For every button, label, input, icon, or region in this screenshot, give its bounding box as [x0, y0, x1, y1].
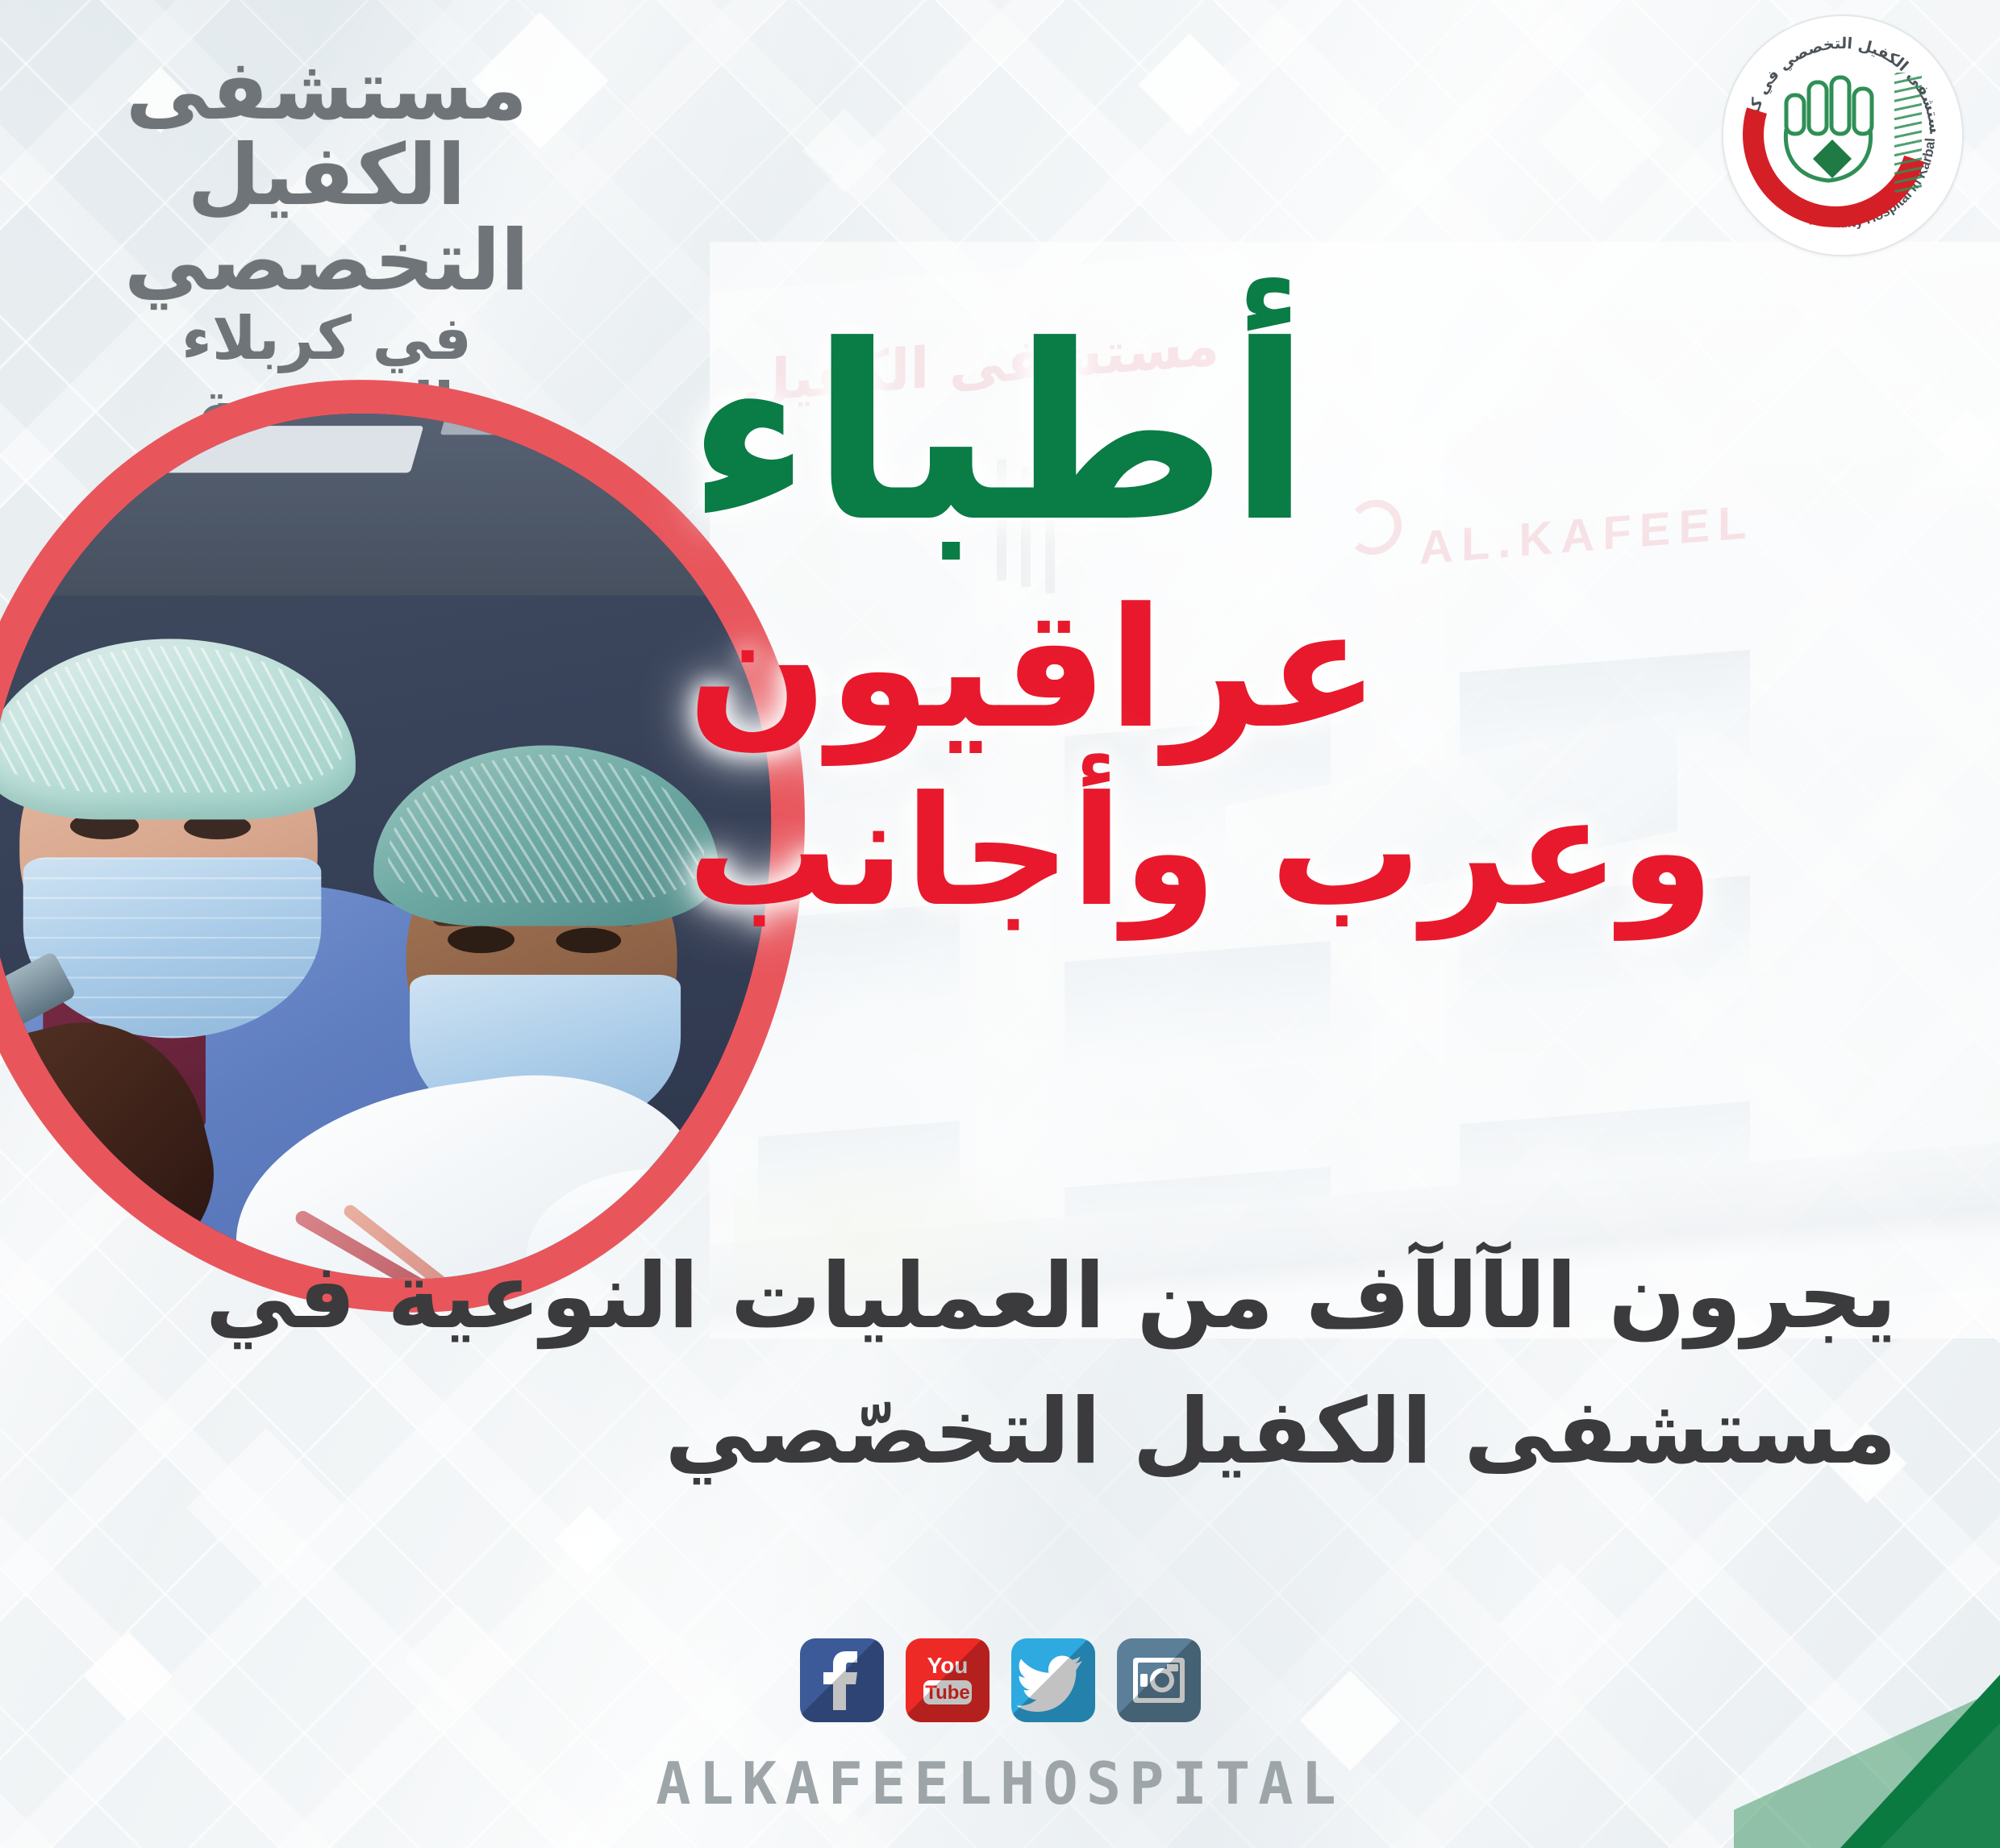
headline-block: أطباء عراقيون وعرب وأجانب	[687, 316, 1897, 926]
headline-line-1: أطباء	[687, 316, 1897, 553]
green-open-hand-icon	[1781, 68, 1885, 189]
al-kafeel-hospital-seal: مستشفى الكفيل التخصصي في كربلاء Al-Kafee…	[1722, 15, 1964, 256]
social-handle: ALKAFEELHOSPITAL	[0, 1750, 2000, 1817]
headline-line-2: عراقيون	[687, 589, 1897, 751]
youtube-icon[interactable]: You Tube	[906, 1638, 990, 1722]
surgery-operating-room-photo	[0, 379, 806, 1314]
poster-canvas: مستشفى الكفيل AL.KAFEEL مستشفى الكفيل ال…	[0, 0, 2000, 1848]
instagram-icon[interactable]	[1117, 1638, 1201, 1722]
wordmark-line-1: مستشفى الكفيل التخصصي	[81, 47, 573, 303]
twitter-icon[interactable]	[1011, 1638, 1095, 1722]
body-paragraph: يجرون الآلآف من العمليات النوعية في مستش…	[187, 1229, 1897, 1500]
logo-arabic-script-ornament	[1894, 73, 1922, 194]
social-icon-row: You Tube	[0, 1638, 2000, 1722]
headline-line-3: وعرب وأجانب	[687, 778, 1897, 926]
facebook-icon[interactable]	[800, 1638, 884, 1722]
photo-clip-mask	[0, 393, 794, 1301]
